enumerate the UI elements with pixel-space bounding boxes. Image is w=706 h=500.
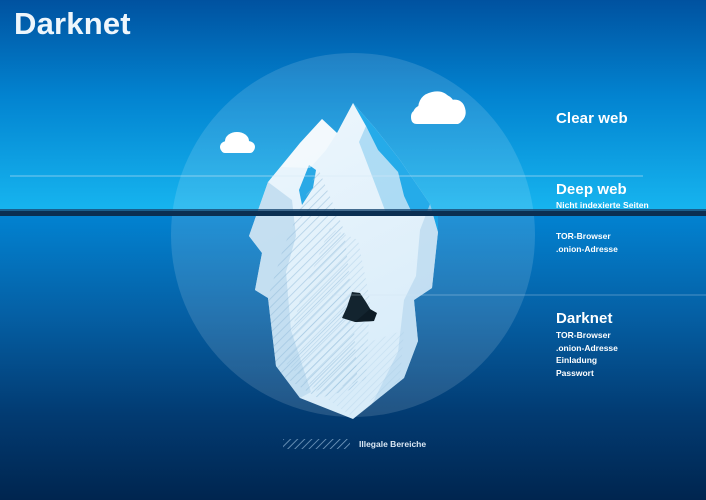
deep-web-requirements: TOR-Browser .onion-Adresse xyxy=(556,230,618,255)
darknet-req-item: Einladung xyxy=(556,354,618,367)
darknet-req-item: Passwort xyxy=(556,367,618,380)
legend: Illegale Bereiche xyxy=(283,437,426,451)
page-title: Darknet xyxy=(14,6,131,42)
deep-web-req-item: TOR-Browser xyxy=(556,230,618,243)
deep-web-req-item: .onion-Adresse xyxy=(556,243,618,256)
label-deep-web-subtitle: Nicht indexierte Seiten xyxy=(556,199,649,212)
legend-label: Illegale Bereiche xyxy=(359,439,426,449)
label-clear-web: Clear web xyxy=(556,110,628,127)
darknet-requirements: TOR-Browser .onion-Adresse Einladung Pas… xyxy=(556,329,618,379)
label-deep-web: Deep web xyxy=(556,181,627,198)
legend-hatch-swatch xyxy=(283,439,350,449)
darknet-req-item: .onion-Adresse xyxy=(556,342,618,355)
infographic-canvas: Darknet Clear web Deep web Nicht indexie… xyxy=(0,0,706,500)
label-darknet: Darknet xyxy=(556,310,613,327)
darknet-req-item: TOR-Browser xyxy=(556,329,618,342)
waterline-bar xyxy=(0,211,706,216)
